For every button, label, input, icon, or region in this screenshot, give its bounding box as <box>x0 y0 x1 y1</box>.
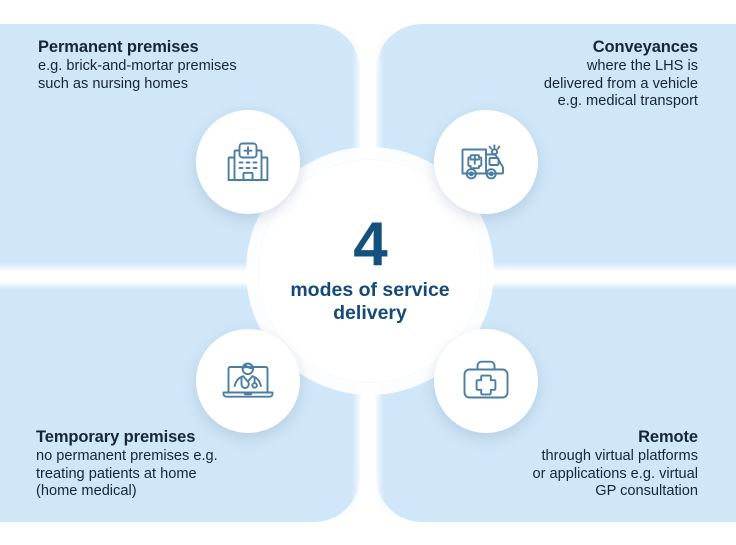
caption-line: or applications e.g. virtual <box>533 466 698 482</box>
caption-conveyances: Conveyances where the LHS is delivered f… <box>398 38 698 111</box>
hospital-building-icon <box>220 134 276 190</box>
caption-line: such as nursing homes <box>38 76 188 92</box>
caption-description: through virtual platforms or application… <box>398 448 698 501</box>
caption-temporary-premises: Temporary premises no permanent premises… <box>36 428 336 501</box>
ambulance-icon <box>457 133 515 191</box>
caption-description: where the LHS is delivered from a vehicl… <box>398 58 698 111</box>
caption-title: Conveyances <box>398 38 698 57</box>
caption-line: no permanent premises e.g. <box>36 448 218 464</box>
caption-line: through virtual platforms <box>541 448 698 464</box>
icon-bubble-conveyances[interactable] <box>434 110 538 214</box>
icon-bubble-remote[interactable] <box>434 329 538 433</box>
caption-line: GP consultation <box>595 483 698 499</box>
caption-permanent-premises: Permanent premises e.g. brick-and-mortar… <box>38 38 338 93</box>
infographic-canvas: 4 modes of service delivery <box>0 0 736 545</box>
telehealth-doctor-laptop-icon <box>219 352 277 410</box>
caption-line: (home medical) <box>36 483 137 499</box>
center-subtitle: modes of service delivery <box>270 279 470 325</box>
caption-title: Temporary premises <box>36 428 336 447</box>
caption-line: where the LHS is <box>587 58 698 74</box>
icon-bubble-temporary-premises[interactable] <box>196 329 300 433</box>
caption-line: e.g. medical transport <box>558 93 698 109</box>
caption-line: delivered from a vehicle <box>544 76 698 92</box>
center-count: 4 <box>353 217 386 273</box>
caption-description: e.g. brick-and-mortar premises such as n… <box>38 58 338 93</box>
icon-bubble-permanent-premises[interactable] <box>196 110 300 214</box>
medical-bag-icon <box>459 354 513 408</box>
caption-line: treating patients at home <box>36 466 197 482</box>
caption-remote: Remote through virtual platforms or appl… <box>398 428 698 501</box>
caption-description: no permanent premises e.g. treating pati… <box>36 448 336 501</box>
caption-line: e.g. brick-and-mortar premises <box>38 58 237 74</box>
caption-title: Remote <box>398 428 698 447</box>
caption-title: Permanent premises <box>38 38 338 57</box>
